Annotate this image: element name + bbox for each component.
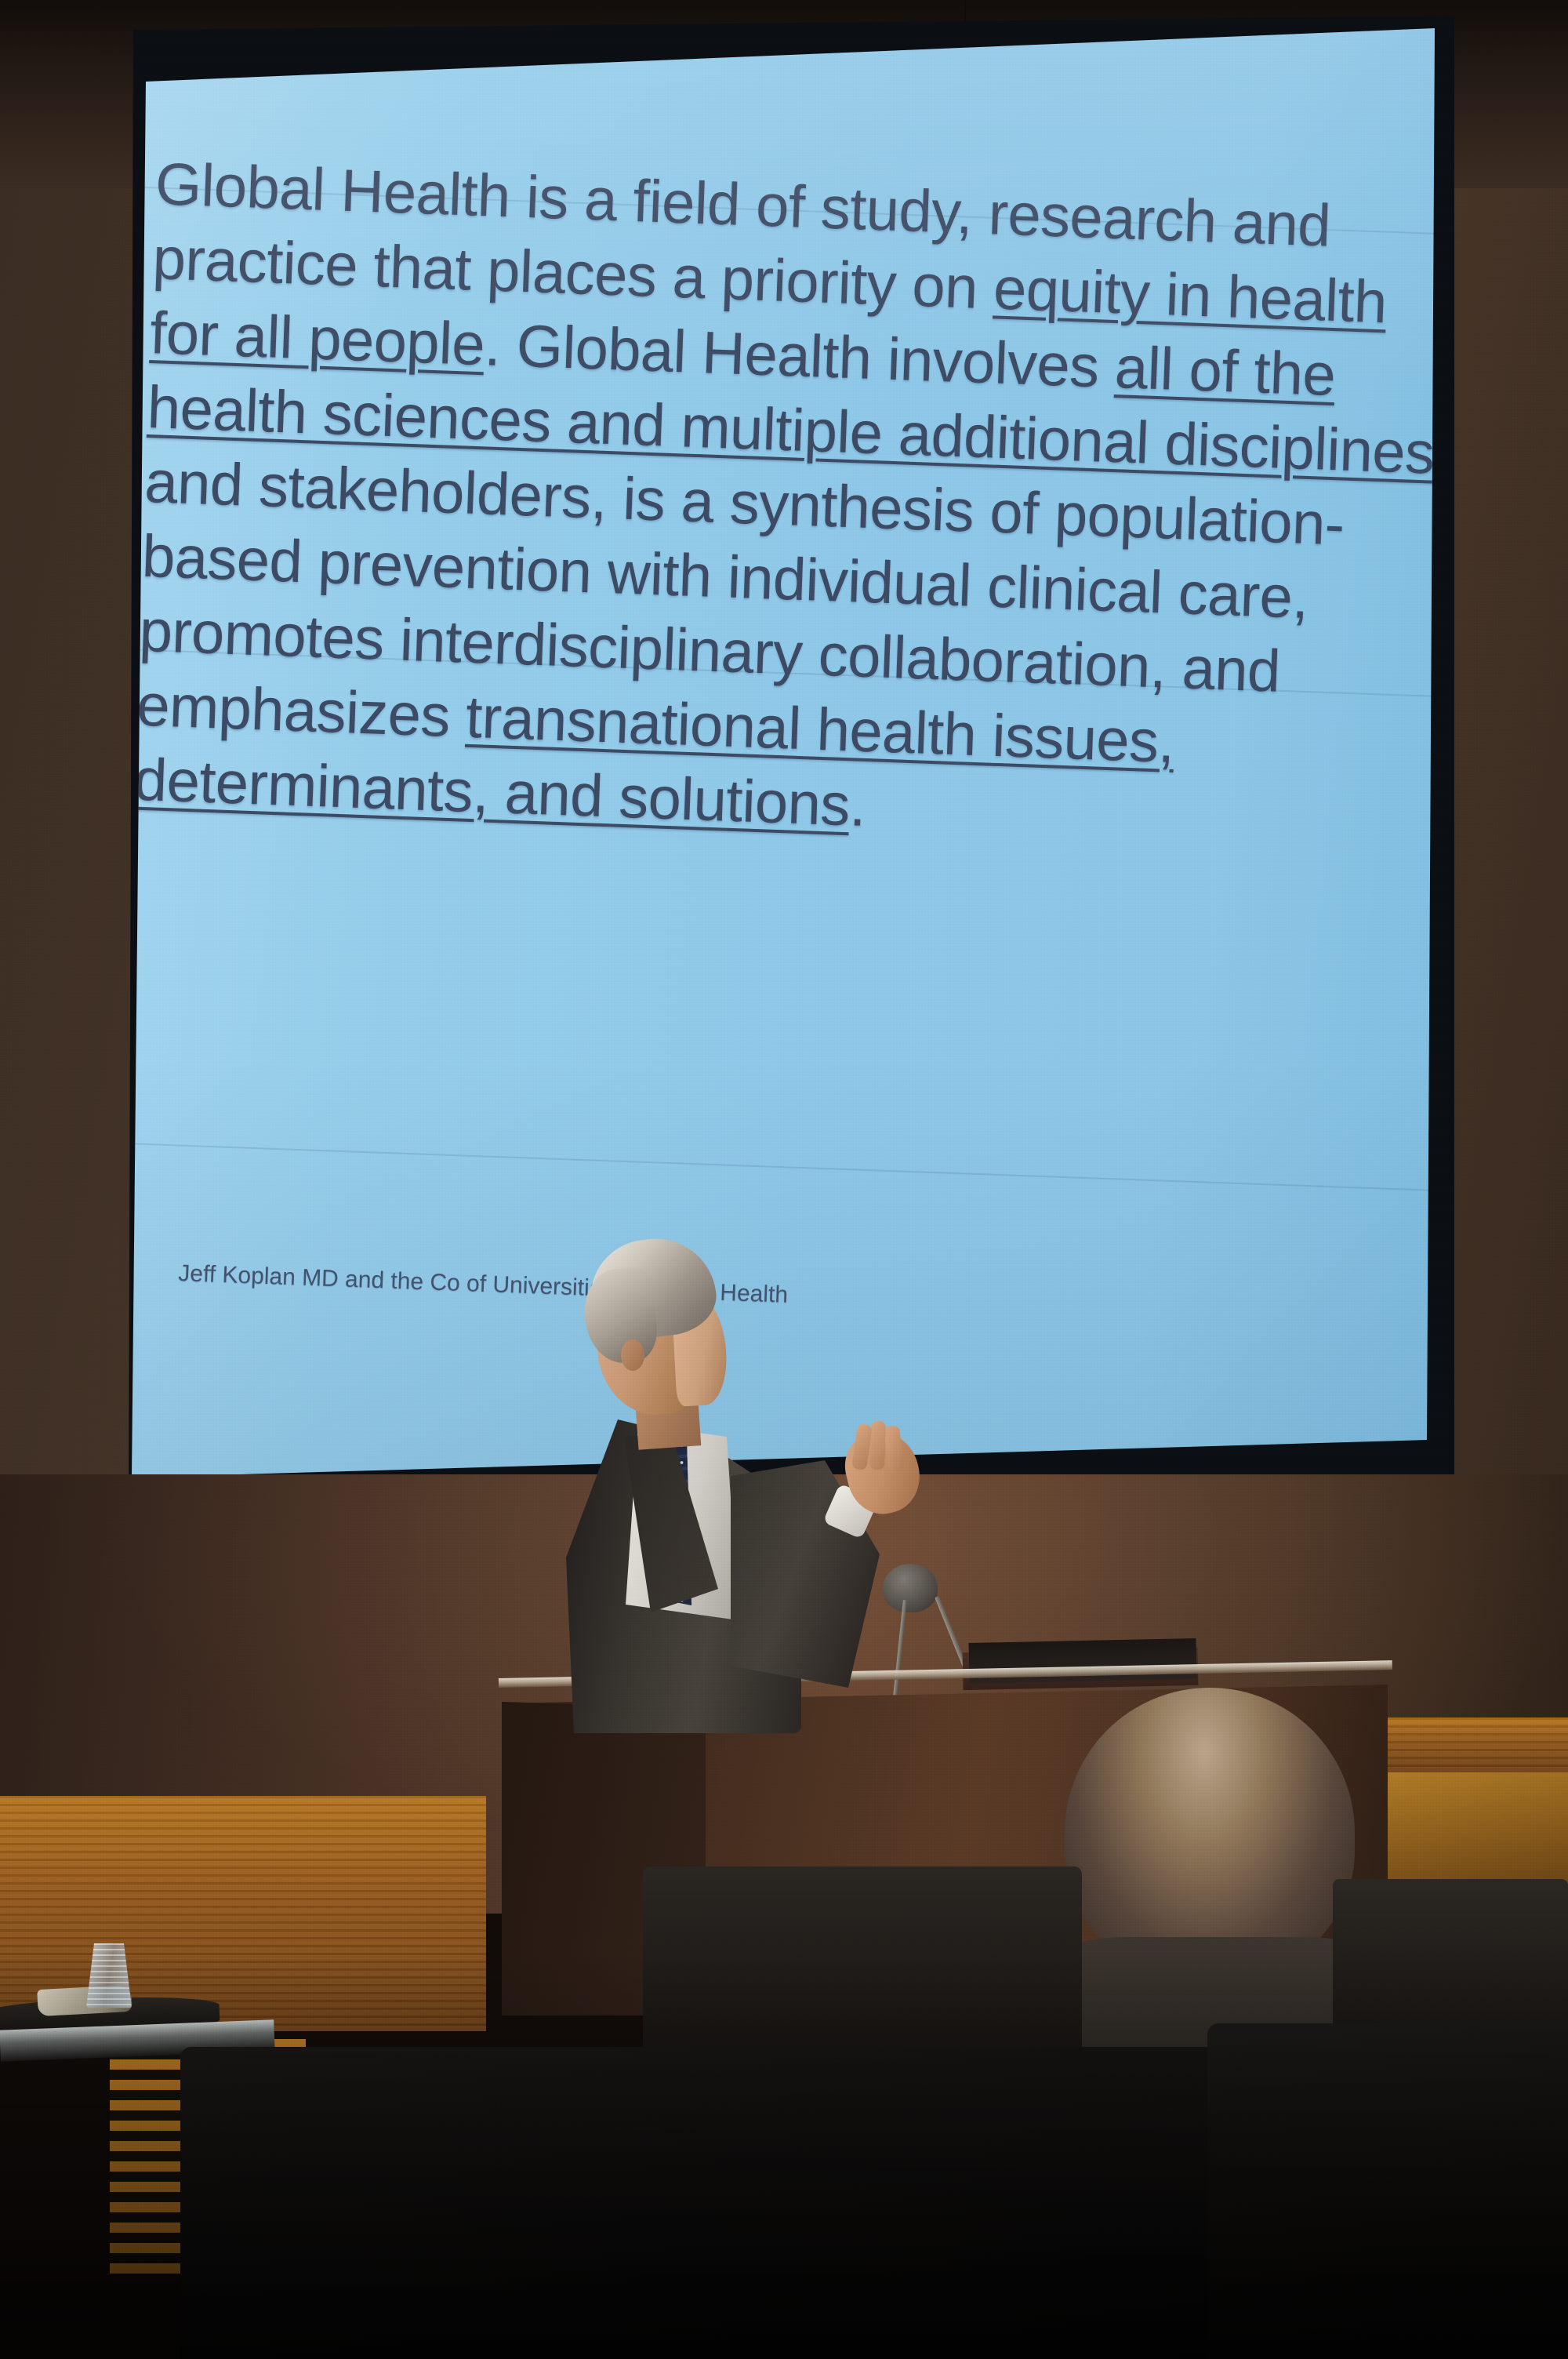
presenter [549, 1239, 917, 1710]
slide-text-block: Global Health is a field of study, resea… [132, 146, 1432, 863]
wall-wood-panel-right [1364, 1717, 1568, 1772]
audience-member-head [1065, 1688, 1355, 1978]
screen-panel-seam [132, 1142, 1441, 1194]
presenter-ear [621, 1339, 644, 1371]
presenter-finger [869, 1421, 886, 1470]
seat-row-front-left [180, 2047, 1215, 2359]
water-glass-ridges [86, 1943, 132, 2008]
lecture-hall-scene: Global Health is a field of study, resea… [0, 0, 1568, 2359]
seat-row-middle-left [643, 1866, 1082, 2047]
seat-row-front-right [1207, 2023, 1568, 2359]
